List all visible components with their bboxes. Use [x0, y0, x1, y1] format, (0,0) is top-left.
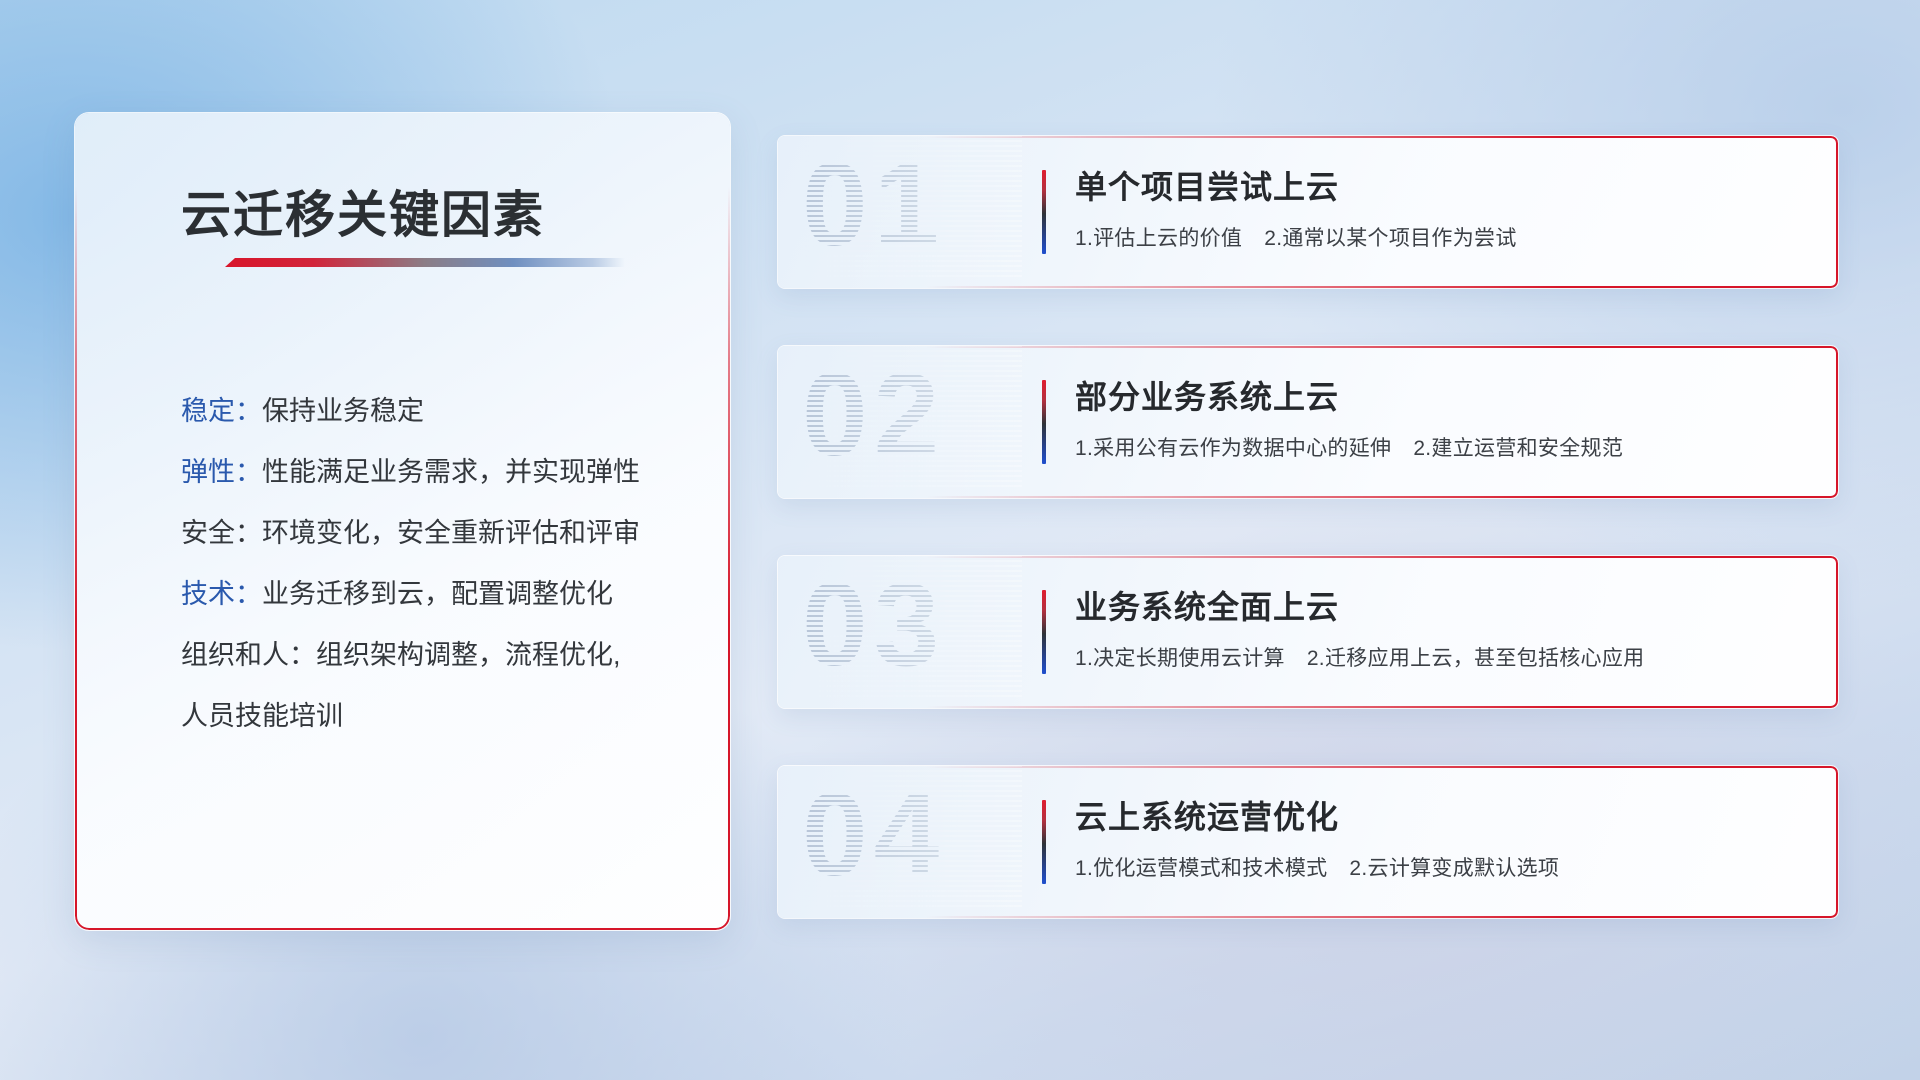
step-description-part-1: 1.优化运营模式和技术模式 [1075, 857, 1327, 880]
step-description-part-2: 2.云计算变成默认选项 [1349, 857, 1559, 880]
list-item: 稳定：保持业务稳定 [181, 381, 701, 442]
factor-label: 技术： [181, 579, 262, 609]
step-title: 部分业务系统上云 [1075, 372, 1810, 418]
step-divider-accent [1042, 170, 1046, 254]
step-divider-accent [1042, 800, 1046, 884]
step-number-watermark: 03 [802, 556, 1022, 700]
factor-label: 弹性： [181, 457, 262, 487]
factor-label: 组织和人： [181, 640, 316, 670]
step-description: 1.决定长期使用云计算2.迁移应用上云，甚至包括核心应用 [1075, 642, 1810, 672]
step-title: 云上系统运营优化 [1075, 792, 1810, 838]
factor-text: 保持业务稳定 [262, 396, 424, 426]
key-factors-list: 稳定：保持业务稳定 弹性：性能满足业务需求，并实现弹性 安全：环境变化，安全重新… [181, 381, 701, 747]
step-title: 业务系统全面上云 [1075, 582, 1810, 628]
key-factors-panel: 云迁移关键因素 稳定：保持业务稳定 弹性：性能满足业务需求，并实现弹性 安全：环… [75, 113, 730, 930]
step-divider-accent [1042, 590, 1046, 674]
factor-text: 环境变化，安全重新评估和评审 [262, 518, 640, 548]
factor-label: 安全： [181, 518, 262, 548]
step-divider-accent [1042, 380, 1046, 464]
list-item: 技术：业务迁移到云，配置调整优化 [181, 564, 701, 625]
step-content: 云上系统运营优化 1.优化运营模式和技术模式2.云计算变成默认选项 [1075, 792, 1810, 882]
step-description: 1.优化运营模式和技术模式2.云计算变成默认选项 [1075, 852, 1810, 882]
step-content: 部分业务系统上云 1.采用公有云作为数据中心的延伸2.建立运营和安全规范 [1075, 372, 1810, 462]
step-description: 1.评估上云的价值2.通常以某个项目作为尝试 [1075, 222, 1810, 252]
title-underline-accent [225, 258, 625, 267]
step-card[interactable]: 01 单个项目尝试上云 1.评估上云的价值2.通常以某个项目作为尝试 [778, 136, 1838, 288]
factor-text: 业务迁移到云，配置调整优化 [262, 579, 613, 609]
slide-canvas: 云迁移关键因素 稳定：保持业务稳定 弹性：性能满足业务需求，并实现弹性 安全：环… [0, 0, 1920, 1080]
step-content: 业务系统全面上云 1.决定长期使用云计算2.迁移应用上云，甚至包括核心应用 [1075, 582, 1810, 672]
factor-text: 性能满足业务需求，并实现弹性 [262, 457, 640, 487]
list-item: 弹性：性能满足业务需求，并实现弹性 [181, 442, 701, 503]
step-card[interactable]: 03 业务系统全面上云 1.决定长期使用云计算2.迁移应用上云，甚至包括核心应用 [778, 556, 1838, 708]
page-title: 云迁移关键因素 [181, 175, 545, 247]
step-description: 1.采用公有云作为数据中心的延伸2.建立运营和安全规范 [1075, 432, 1810, 462]
factor-text: 组织架构调整，流程优化, [316, 640, 621, 670]
factor-text: 人员技能培训 [181, 701, 343, 731]
list-item: 组织和人：组织架构调整，流程优化, [181, 625, 701, 686]
list-item: 人员技能培训 [181, 686, 701, 747]
step-description-part-1: 1.决定长期使用云计算 [1075, 647, 1285, 670]
step-description-part-1: 1.采用公有云作为数据中心的延伸 [1075, 437, 1391, 460]
factor-label: 稳定： [181, 396, 262, 426]
step-card[interactable]: 04 云上系统运营优化 1.优化运营模式和技术模式2.云计算变成默认选项 [778, 766, 1838, 918]
step-card[interactable]: 02 部分业务系统上云 1.采用公有云作为数据中心的延伸2.建立运营和安全规范 [778, 346, 1838, 498]
migration-steps-list: 01 单个项目尝试上云 1.评估上云的价值2.通常以某个项目作为尝试 02 部分… [778, 136, 1838, 918]
step-description-part-2: 2.建立运营和安全规范 [1413, 437, 1623, 460]
step-number-watermark: 01 [802, 136, 1022, 280]
step-content: 单个项目尝试上云 1.评估上云的价值2.通常以某个项目作为尝试 [1075, 162, 1810, 252]
step-description-part-1: 1.评估上云的价值 [1075, 227, 1242, 250]
step-description-part-2: 2.迁移应用上云，甚至包括核心应用 [1307, 647, 1645, 670]
step-number-watermark: 04 [802, 766, 1022, 910]
step-number-watermark: 02 [802, 346, 1022, 490]
step-description-part-2: 2.通常以某个项目作为尝试 [1264, 227, 1516, 250]
step-title: 单个项目尝试上云 [1075, 162, 1810, 208]
list-item: 安全：环境变化，安全重新评估和评审 [181, 503, 701, 564]
